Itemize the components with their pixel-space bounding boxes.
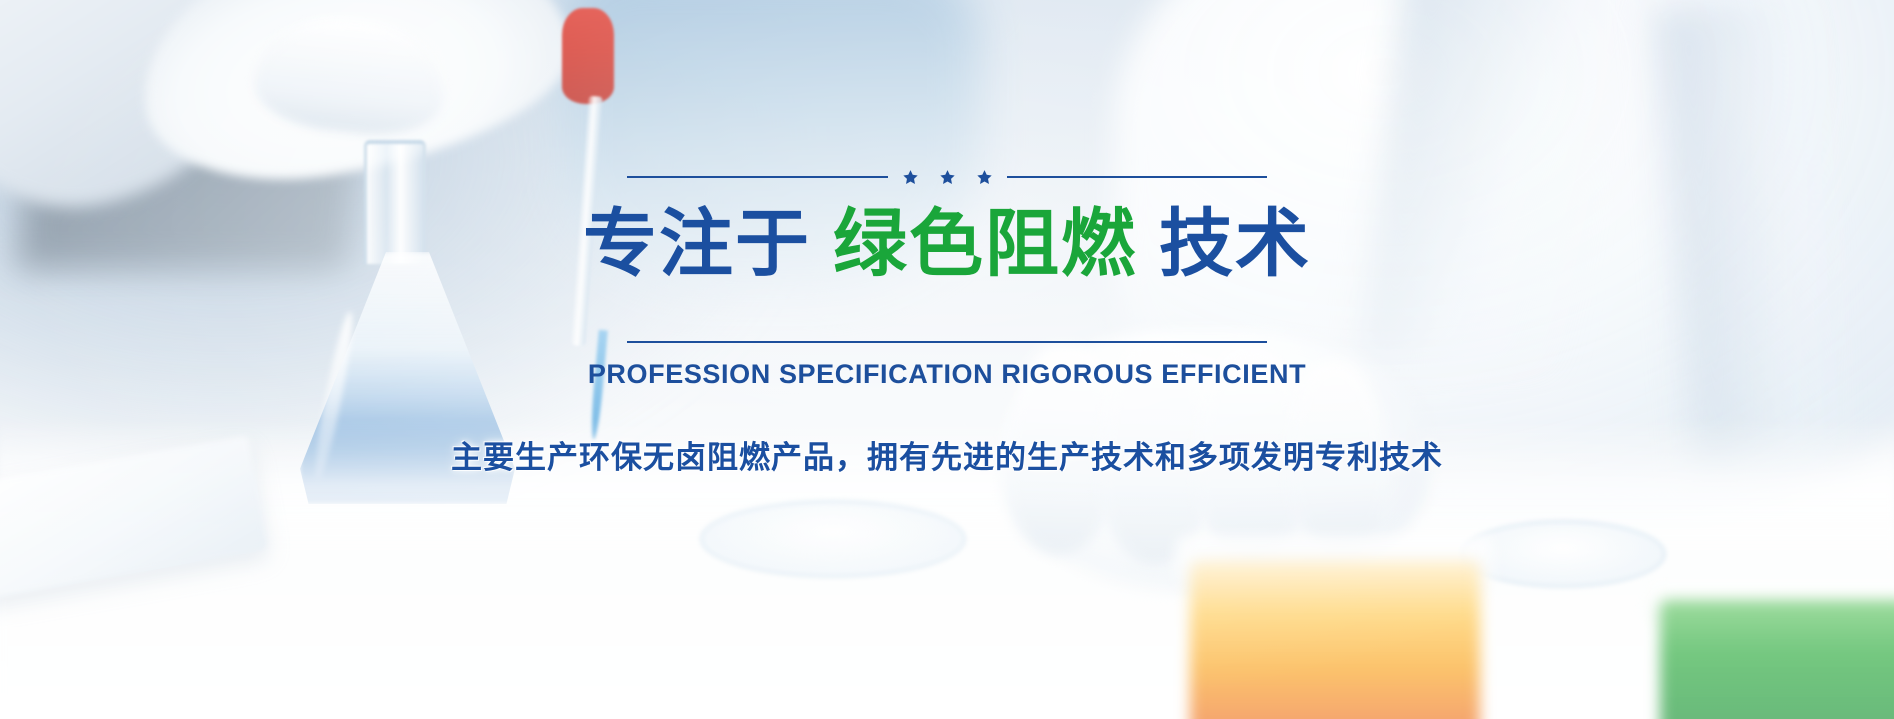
star-icon xyxy=(976,169,993,186)
banner-subtitle: PROFESSION SPECIFICATION RIGOROUS EFFICI… xyxy=(588,359,1306,390)
headline-part-2: 绿色阻燃 xyxy=(833,202,1137,285)
divider-rule-right xyxy=(1007,176,1268,178)
star-icon xyxy=(939,169,956,186)
hero-banner: 专注于绿色阻燃技术 PROFESSION SPECIFICATION RIGOR… xyxy=(0,0,1894,719)
banner-content: 专注于绿色阻燃技术 PROFESSION SPECIFICATION RIGOR… xyxy=(0,0,1894,719)
headline-part-1: 专注于 xyxy=(583,202,811,285)
headline-part-3: 技术 xyxy=(1159,202,1311,285)
divider-rule-left xyxy=(627,176,888,178)
banner-tagline: 主要生产环保无卤阻燃产品，拥有先进的生产技术和多项发明专利技术 xyxy=(451,432,1443,477)
star-group xyxy=(902,169,993,186)
headline-underline xyxy=(627,341,1267,343)
page-title: 专注于绿色阻燃技术 xyxy=(583,204,1311,284)
star-icon xyxy=(902,169,919,186)
decorative-divider xyxy=(627,168,1267,186)
